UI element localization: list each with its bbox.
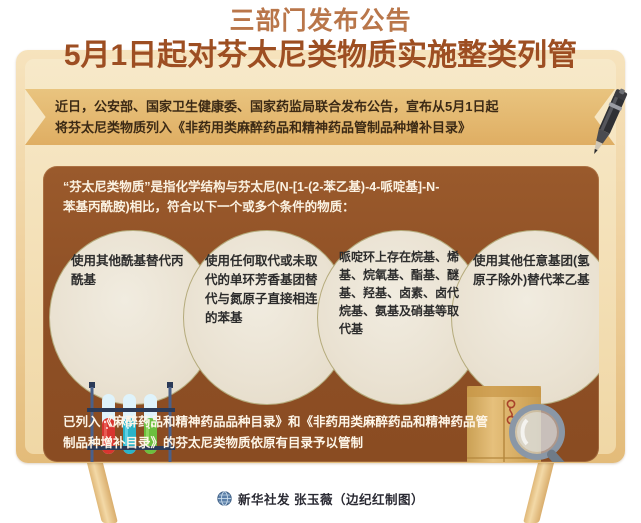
definition-text: “芬太尼类物质”是指化学结构与芬太尼(N-[1-(2-苯乙基)-4-哌啶基]-N… — [63, 177, 583, 217]
condition-text-2: 使用任何取代或未取代的单环芳香基团替代与氮原子直接相连的苯基 — [205, 252, 329, 328]
condition-text-1: 使用其他酰基替代丙酰基 — [71, 252, 195, 290]
bottom-note-line-1: 已列入《麻醉药品和精神药品品种目录》和《非药用类麻醉药品和精神药品管 — [63, 412, 579, 433]
condition-text-4: 使用其他任意基团(氢原子除外)替代苯乙基 — [473, 252, 597, 290]
footer-credit: 新华社发 张玉薇（边纪红制图） — [0, 489, 641, 508]
definition-panel: “芬太尼类物质”是指化学结构与芬太尼(N-[1-(2-苯乙基)-4-哌啶基]-N… — [43, 166, 599, 462]
title-line-1: 三部门发布公告 — [0, 0, 641, 36]
intro-ribbon-text: 近日，公安部、国家卫生健康委、国家药监局联合发布公告，宣布从5月1日起 将芬太尼… — [55, 93, 565, 141]
title-line-2: 5月1日起对芬太尼类物质实施整类列管 — [0, 36, 641, 74]
definition-line-2: 苯基丙酰胺)相比，符合以下一个或多个条件的物质： — [63, 197, 583, 217]
bottom-note: 已列入《麻醉药品和精神药品品种目录》和《非药用类麻醉药品和精神药品管 制品种增补… — [63, 412, 579, 454]
globe-icon — [217, 491, 232, 506]
footer-text: 新华社发 张玉薇（边纪红制图） — [238, 489, 424, 508]
pen-icon — [585, 86, 631, 160]
bottom-note-line-2: 制品种增补目录》的芬太尼类物质依原有目录予以管制 — [63, 433, 579, 454]
definition-line-1: “芬太尼类物质”是指化学结构与芬太尼(N-[1-(2-苯乙基)-4-哌啶基]-N… — [63, 177, 583, 197]
condition-text-3: 哌啶环上存在烷基、烯基、烷氧基、酯基、醚基、羟基、卤素、卤代烷基、氨基及硝基等取… — [339, 248, 463, 338]
intro-line-1: 近日，公安部、国家卫生健康委、国家药监局联合发布公告，宣布从5月1日起 — [55, 96, 565, 117]
conditions-group: 使用其他酰基替代丙酰基 使用任何取代或未取代的单环芳香基团替代与氮原子直接相连的… — [43, 230, 599, 405]
page-title: 三部门发布公告 5月1日起对芬太尼类物质实施整类列管 — [0, 0, 641, 74]
intro-line-2: 将芬太尼类物质列入《非药用类麻醉药品和精神药品管制品种增补目录》 — [55, 117, 565, 138]
